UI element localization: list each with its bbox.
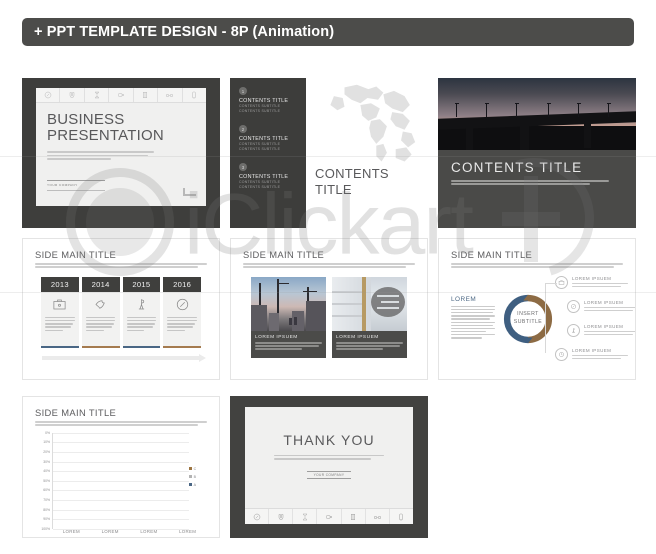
chart-gridline: [53, 452, 189, 453]
list-item: 1 CONTENTS TITLE CONTENTS SUBTITLE CONTE…: [239, 87, 306, 114]
timeline-body: [41, 292, 79, 346]
hourglass-icon: [85, 88, 109, 102]
slide-1-title-line-2: PRESENTATION: [47, 128, 195, 144]
slide-8-thank-you: THANK YOU YOUR COMPANY: [230, 396, 428, 538]
slide-2-right-panel: CONTENTS TITLE: [306, 78, 428, 228]
slide-6-subtext: [451, 263, 623, 268]
street-dusk-photo: [251, 277, 326, 331]
timeline-accent-bar: [163, 346, 201, 349]
slide-thumb-3[interactable]: CONTENTS TITLE: [438, 78, 636, 228]
chart-y-tick: 0%: [45, 431, 50, 435]
slide-8-inner: THANK YOU YOUR COMPANY: [245, 407, 413, 524]
chart-y-tick: 50%: [43, 479, 50, 483]
timeline-column: 2013: [41, 277, 79, 349]
slide-thumb-6[interactable]: SIDE MAIN TITLE LOREM: [438, 238, 636, 380]
timeline-body: [123, 292, 161, 346]
timeline-arrow: [42, 356, 200, 360]
slide-3-big-title: CONTENTS TITLE: [451, 160, 623, 175]
slide-6-diagram-wrap: LOREM: [451, 274, 623, 372]
list-item-subtitle-2: CONTENTS SUBTITLE: [239, 109, 306, 114]
compass-icon: [36, 88, 60, 102]
slide-row-3: SIDE MAIN TITLE 100%90%80%70%60%50%40%30…: [22, 396, 636, 538]
chart-gridline: [53, 529, 189, 530]
slide-8-title: THANK YOU: [283, 432, 374, 448]
chart-legend: CBA: [189, 433, 207, 529]
slide-3-text-zone: CONTENTS TITLE: [438, 150, 636, 185]
slide-8-lorem-paragraph: [274, 455, 385, 462]
chart-legend-swatch: [189, 475, 192, 478]
coffee-cup-icon: [317, 509, 341, 524]
chart-gridline: [53, 481, 189, 482]
trophy-icon: [134, 297, 149, 312]
photo-card-caption: LOREM IPSUEM: [251, 331, 326, 358]
slide-6-nodes: LOREM IPSUEM LOREM IPSUEM: [561, 274, 623, 372]
slide-row-2: SIDE MAIN TITLE 2013: [22, 238, 636, 380]
timeline-year: 2013: [41, 277, 79, 292]
slide-6-donut-diagram: SIDE MAIN TITLE LOREM: [438, 238, 636, 380]
donut-center-line-1: INSERT: [517, 311, 539, 319]
glasses-icon: [158, 88, 182, 102]
diagram-node-text: LOREM IPSUEM: [584, 324, 636, 337]
timeline-body: [163, 292, 201, 346]
diagram-node-text: LOREM IPSUEM: [572, 348, 628, 361]
slide-2-contents-title-map: 1 CONTENTS TITLE CONTENTS SUBTITLE CONTE…: [230, 78, 428, 228]
phone-icon: [183, 88, 206, 102]
chart-y-axis: 100%90%80%70%60%50%40%30%20%10%0%: [35, 433, 52, 529]
list-item: 3 CONTENTS TITLE CONTENTS SUBTITLE CONTE…: [239, 163, 306, 190]
chart-legend-label: C: [194, 467, 197, 471]
chart-gridline: [53, 500, 189, 501]
bridge-sunset-photo: [438, 78, 636, 150]
list-item-subtitle-2: CONTENTS SUBTITLE: [239, 147, 306, 152]
timeline-accent-bar: [82, 346, 120, 349]
slide-thumb-7[interactable]: SIDE MAIN TITLE 100%90%80%70%60%50%40%30…: [22, 396, 220, 538]
photo-card-caption: LOREM IPSUEM: [332, 331, 407, 358]
divider: [47, 190, 105, 191]
slide-6-left-column: LOREM: [451, 274, 495, 372]
coffee-cup-icon: [109, 88, 133, 102]
slide-thumb-2[interactable]: 1 CONTENTS TITLE CONTENTS SUBTITLE CONTE…: [230, 78, 428, 228]
slide-7-subtext: [35, 421, 207, 426]
chart-gridline: [53, 433, 189, 434]
timeline-year: 2014: [82, 277, 120, 292]
slide-6-side-title: SIDE MAIN TITLE: [451, 249, 623, 260]
chart-legend-label: B: [194, 475, 196, 479]
chart-gridline: [53, 471, 189, 472]
chart-y-tick: 80%: [43, 508, 50, 512]
slide-1-company-block: YOUR COMPANY: [47, 180, 105, 191]
donut-center-line-2: SUBTITLE: [514, 319, 542, 327]
timeline-year: 2015: [123, 277, 161, 292]
slide-4-columns: 2013 2014: [35, 277, 207, 349]
chart-y-tick: 90%: [43, 517, 50, 521]
list-number-badge: 1: [239, 87, 247, 95]
magnet-icon: [269, 509, 293, 524]
diagram-node-text: LOREM IPSUEM: [584, 300, 636, 313]
timeline-accent-bar: [41, 346, 79, 349]
slide-thumb-empty: [438, 396, 636, 538]
hourglass-icon: [293, 509, 317, 524]
photo-card-label: LOREM IPSUEM: [255, 335, 322, 340]
slide-7-side-title: SIDE MAIN TITLE: [35, 407, 207, 418]
bridge-pier: [520, 124, 529, 150]
corner-bracket-decoration: [183, 188, 196, 196]
slide-8-center: THANK YOU YOUR COMPANY: [245, 407, 413, 508]
briefcase-icon: [52, 297, 67, 312]
phone-icon: [390, 509, 413, 524]
chart-plot-area: [52, 433, 189, 529]
stacked-bar-chart: 100%90%80%70%60%50%40%30%20%10%0% CBA: [35, 433, 207, 529]
slide-4-side-title: SIDE MAIN TITLE: [35, 249, 207, 260]
diagram-node-label: LOREM IPSUEM: [584, 300, 636, 305]
chart-y-tick: 70%: [43, 498, 50, 502]
trophy-icon: [567, 324, 580, 337]
slide-row-1: BUSINESS PRESENTATION YOUR COMPANY: [22, 78, 636, 228]
page-title-bar: + PPT TEMPLATE DESIGN - 8P (Animation): [22, 18, 634, 46]
slide-7-stacked-bar-chart: SIDE MAIN TITLE 100%90%80%70%60%50%40%30…: [22, 396, 220, 538]
icon-row: [245, 508, 413, 524]
bridge-pier: [466, 124, 473, 150]
slide-8-company-block: YOUR COMPANY: [307, 471, 351, 479]
slide-thumb-1[interactable]: BUSINESS PRESENTATION YOUR COMPANY: [22, 78, 220, 228]
magnet-icon: [60, 88, 84, 102]
slide-5-cards: LOREM IPSUEM: [243, 277, 415, 358]
slide-2-big-title-line-2: TITLE: [315, 182, 389, 198]
chart-y-tick: 30%: [43, 460, 50, 464]
chart-legend-item: C: [189, 467, 207, 471]
slide-thumb-4[interactable]: SIDE MAIN TITLE 2013: [22, 238, 220, 380]
compass-icon: [567, 300, 580, 313]
diagram-node-label: LOREM IPSUEM: [572, 276, 628, 281]
slide-4-year-timeline: SIDE MAIN TITLE 2013: [22, 238, 220, 380]
building-sign-photo: [332, 277, 407, 331]
icon-row: [36, 88, 206, 103]
slide-thumb-8[interactable]: THANK YOU YOUR COMPANY: [230, 396, 428, 538]
book-icon: [134, 88, 158, 102]
timeline-column: 2014: [82, 277, 120, 349]
slide-2-contents-list: 1 CONTENTS TITLE CONTENTS SUBTITLE CONTE…: [230, 78, 306, 228]
photo-card[interactable]: LOREM IPSUEM: [251, 277, 326, 358]
puzzle-icon: [93, 297, 108, 312]
chart-y-tick: 40%: [43, 469, 50, 473]
photo-card-label: LOREM IPSUEM: [336, 335, 403, 340]
slide-3-contents-title-photo: CONTENTS TITLE: [438, 78, 636, 228]
slide-2-big-title-line-1: CONTENTS: [315, 166, 389, 182]
photo-card[interactable]: LOREM IPSUEM: [332, 277, 407, 358]
slide-5-two-photo-cards: SIDE MAIN TITLE: [230, 238, 428, 380]
divider: [47, 180, 105, 181]
slide-1-body: BUSINESS PRESENTATION: [36, 103, 206, 160]
slide-thumb-5[interactable]: SIDE MAIN TITLE: [230, 238, 428, 380]
slide-5-subtext: [243, 263, 415, 268]
diagram-node[interactable]: LOREM IPSUEM: [567, 324, 636, 337]
timeline-column: 2015: [123, 277, 161, 349]
chart-gridline: [53, 490, 189, 491]
slide-2-big-title: CONTENTS TITLE: [315, 166, 389, 199]
list-number-badge: 3: [239, 163, 247, 171]
divider: [307, 478, 351, 479]
timeline-year: 2016: [163, 277, 201, 292]
world-map-graphic: [318, 82, 424, 166]
slide-1-company-label: YOUR COMPANY: [47, 183, 105, 187]
slide-3-lorem-paragraph: [451, 180, 609, 185]
timeline-body: [82, 292, 120, 346]
slide-1-title-line-1: BUSINESS: [47, 112, 195, 128]
list-number-badge: 2: [239, 125, 247, 133]
diagram-node-label: LOREM IPSUEM: [572, 348, 628, 353]
node-connector-line: [545, 283, 557, 353]
compass-icon: [175, 297, 190, 312]
chart-legend-item: B: [189, 475, 207, 479]
chart-y-tick: 100%: [41, 527, 50, 531]
diagram-node-text: LOREM IPSUEM: [572, 276, 628, 289]
bridge-pier: [584, 124, 591, 148]
slide-6-left-label: LOREM: [451, 296, 495, 303]
slide-5-side-title: SIDE MAIN TITLE: [243, 249, 415, 260]
slide-1-lorem-paragraph: [47, 151, 154, 159]
diagram-node[interactable]: LOREM IPSUEM: [555, 348, 628, 361]
list-item: 2 CONTENTS TITLE CONTENTS SUBTITLE CONTE…: [239, 125, 306, 152]
timeline-accent-bar: [123, 346, 161, 349]
chart-legend-label: A: [194, 483, 196, 487]
chart-y-tick: 10%: [43, 440, 50, 444]
diagram-node[interactable]: LOREM IPSUEM: [567, 300, 636, 313]
chart-gridline: [53, 519, 189, 520]
chart-gridline: [53, 462, 189, 463]
screenshot-root: + PPT TEMPLATE DESIGN - 8P (Animation): [0, 0, 656, 554]
chart-y-tick: 60%: [43, 488, 50, 492]
page-title: + PPT TEMPLATE DESIGN - 8P (Animation): [34, 24, 334, 40]
chart-legend-swatch: [189, 483, 192, 486]
slide-4-subtext: [35, 263, 207, 268]
timeline-column: 2016: [163, 277, 201, 349]
slide-1-business-presentation: BUSINESS PRESENTATION YOUR COMPANY: [22, 78, 220, 228]
list-item-subtitle-2: CONTENTS SUBTITLE: [239, 185, 306, 190]
chart-gridline: [53, 510, 189, 511]
slide-1-inner: BUSINESS PRESENTATION YOUR COMPANY: [36, 88, 206, 206]
book-icon: [342, 509, 366, 524]
chart-gridline: [53, 442, 189, 443]
diagram-node[interactable]: LOREM IPSUEM: [555, 276, 628, 289]
chart-legend-item: A: [189, 483, 207, 487]
chart-y-tick: 20%: [43, 450, 50, 454]
glasses-icon: [366, 509, 390, 524]
chart-legend-swatch: [189, 467, 192, 470]
compass-icon: [245, 509, 269, 524]
diagram-node-label: LOREM IPSUEM: [584, 324, 636, 329]
